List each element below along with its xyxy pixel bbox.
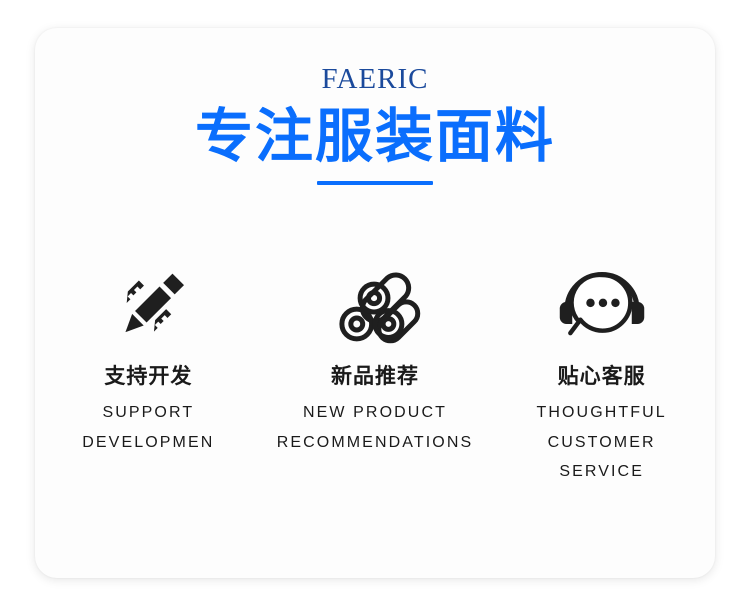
- feature-title-en: SUPPORT DEVELOPMEN: [43, 398, 253, 457]
- feature-item-customer-service: 贴心客服 THOUGHTFUL CUSTOMER SERVICE: [497, 250, 707, 487]
- feature-title-en: THOUGHTFUL CUSTOMER SERVICE: [497, 398, 707, 487]
- title-divider: [317, 181, 433, 185]
- feature-title-cn: 贴心客服: [497, 364, 707, 389]
- fabric-rolls-icon: [270, 250, 480, 350]
- feature-item-support-development: 支持开发 SUPPORT DEVELOPMEN: [43, 250, 253, 457]
- promo-banner-card: FAERIC 专注服装面料: [35, 28, 715, 578]
- features-row: 支持开发 SUPPORT DEVELOPMEN: [35, 250, 715, 487]
- feature-title-cn: 支持开发: [43, 364, 253, 389]
- feature-item-new-product: 新品推荐 NEW PRODUCT RECOMMENDATIONS: [270, 250, 480, 457]
- page-title: 专注服装面料: [35, 106, 715, 167]
- banner-header: FAERIC 专注服装面料: [35, 28, 715, 185]
- feature-title-cn: 新品推荐: [270, 364, 480, 389]
- pencil-ruler-icon: [43, 250, 253, 350]
- brand-name: FAERIC: [35, 65, 715, 94]
- feature-title-en: NEW PRODUCT RECOMMENDATIONS: [270, 398, 480, 457]
- headset-chat-icon: [497, 250, 707, 350]
